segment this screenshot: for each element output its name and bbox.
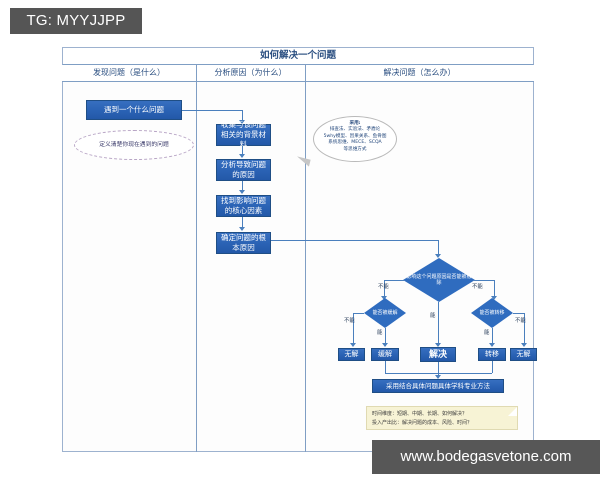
decision-root-label: 影响这个问题原因是否能被根除 [403,258,475,302]
edge-label-root-right: 不能 [472,284,483,291]
arrow-into-unsolved-right [521,343,527,347]
edge-label-root-left: 不能 [378,284,389,291]
site-watermark-badge: www.bodegasvetone.com [372,440,600,474]
callout-methods: 采用: 排查法、实验法、矛盾论 5why模型、因果关系、鱼骨图 系统思维、MEC… [313,116,397,162]
connector-root-left-h [384,280,404,281]
node-analyze-cause[interactable]: 分析导致问题的原因 [216,159,271,181]
column-header-solve: 解决问题（怎么办） [305,65,534,82]
outcome-transferred[interactable]: 转移 [478,348,506,361]
node-collect-materials[interactable]: 收集与该问题相关的背景材料 [216,124,271,146]
outcome-solved[interactable]: 解决 [420,347,456,362]
decision-can-mitigate[interactable]: 能否被缓解 [364,298,406,328]
column-header-discover: 发现问题（是什么） [62,65,196,82]
column-divider-1 [196,65,197,452]
outcome-unsolved-right[interactable]: 无解 [510,348,537,361]
callout-line-2: 排查法、实验法、矛盾论 [319,127,391,133]
arrow-into-core [239,190,245,194]
note-line-1: 时间维度：短期、中期、长期、如何解决？ [372,410,513,419]
connector-root-to-decision-h [271,240,438,241]
outcome-unsolved-left[interactable]: 无解 [338,348,365,361]
decision-root-eliminable[interactable]: 影响这个问题原因是否能被根除 [403,258,475,302]
edge-label-transfer-right: 不能 [515,318,526,325]
arrow-into-mitigated [382,343,388,347]
note-fold-corner [508,407,517,416]
connector-start-to-collect-h [182,110,242,111]
connector-transferred-join [492,361,493,373]
callout-line-4: 系统思维、MECE、SCQA [319,140,391,146]
outcome-mitigated[interactable]: 缓解 [371,348,399,361]
note-line-2: 投入产出比：解决问题的成本、风险、时间？ [372,419,513,428]
tg-watermark-badge: TG: MYYJJPP [10,8,142,34]
connector-mitigated-join [385,361,386,373]
diagram-title: 如何解决一个问题 [62,47,534,65]
column-divider-2 [305,65,306,452]
callout-line-5: 等思维方式 [319,147,391,153]
node-root-cause[interactable]: 确定问题的根本原因 [216,232,271,254]
node-core-factor[interactable]: 找到影响问题的核心因素 [216,195,271,217]
column-header-analyze: 分析原因（为什么） [196,65,305,82]
edge-label-transfer-down: 能 [484,330,489,337]
edge-label-mitigate-down: 能 [377,330,382,337]
decision-mitigate-label: 能否被缓解 [364,298,406,328]
connector-mitigate-left-h [353,313,364,314]
arrow-into-unsolved-left [350,343,356,347]
edge-label-root-down: 能 [430,313,435,320]
connector-root-down [438,302,439,346]
arrow-into-transferred [489,343,495,347]
decision-can-transfer[interactable]: 能否被转移 [471,298,513,328]
connector-root-right-h [474,280,494,281]
note-time-and-roi: 时间维度：短期、中期、长期、如何解决？ 投入产出比：解决问题的成本、风险、时间？ [366,406,518,430]
note-define-problem: 定义清楚你现在遇到的问题 [74,130,194,160]
connector-transfer-right-h [513,313,524,314]
arrow-into-analyze [239,154,245,158]
edge-label-mitigate-left: 不能 [344,318,355,325]
screenshot-canvas: TG: MYYJJPP 如何解决一个问题 发现问题（是什么） 分析原因（为什么）… [0,0,600,480]
node-apply-discipline-method[interactable]: 采用结合具体问题具体学科专业方法 [372,379,504,393]
decision-transfer-label: 能否被转移 [471,298,513,328]
node-start-problem[interactable]: 遇到一个什么问题 [86,100,182,120]
arrow-into-root [239,227,245,231]
